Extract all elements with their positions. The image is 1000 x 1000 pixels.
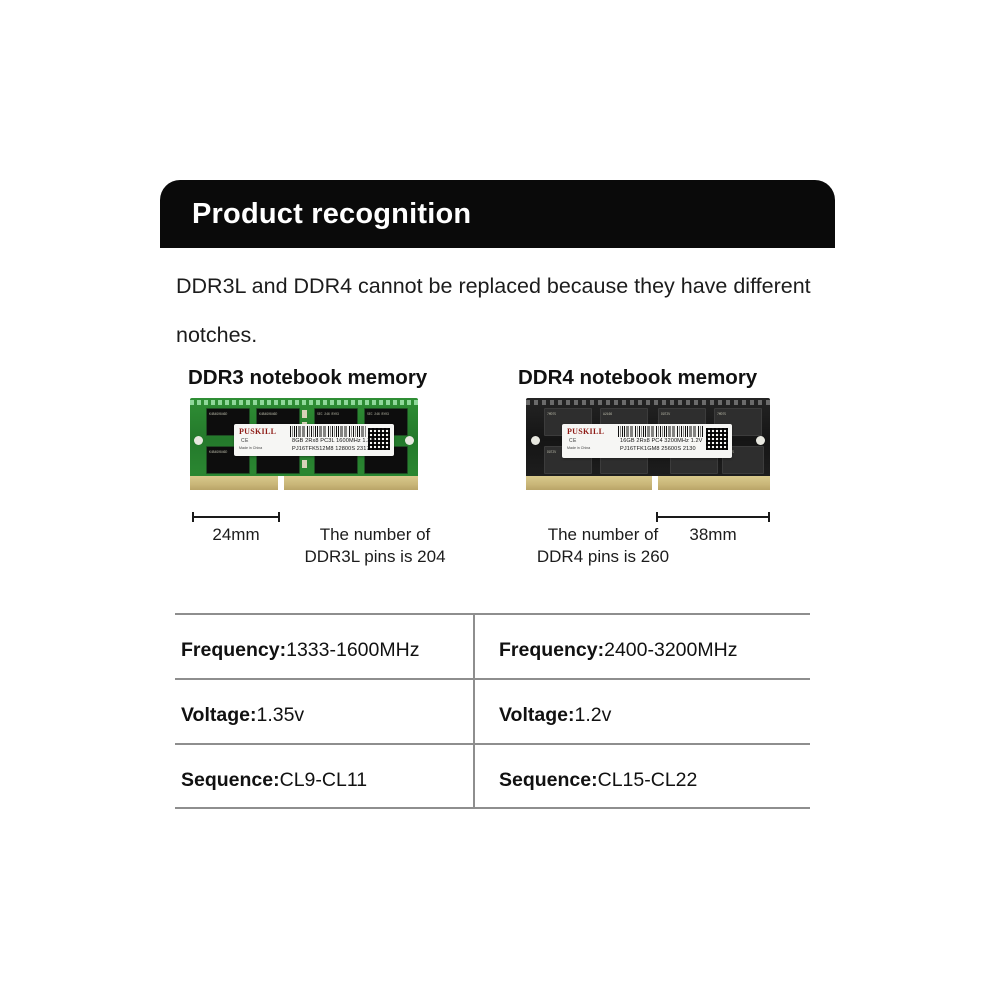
ddr3-spec-line-2: PJ16TFK512M8 12800S 2317	[292, 446, 370, 452]
ddr4-spec-line-1: 16GB 2Rx8 PC4 3200MHz 1.2V	[620, 438, 703, 444]
ddr3-smd-pad	[302, 460, 307, 468]
ddr3-dimension-label: 24mm	[192, 525, 280, 545]
ddr3-mounting-hole-left	[194, 436, 203, 445]
table-rule-bottom	[175, 807, 810, 809]
ddr3-memory-module-image: K4B4G0846D K4B4G0846D SEC 246 BY03 SEC 2…	[190, 398, 418, 502]
ddr3-chip-marking: K4B4G0846D	[259, 412, 297, 416]
ddr3-gold-contacts-left	[190, 476, 278, 490]
value-ddr3-voltage: 1.35v	[256, 704, 304, 726]
ddr4-mounting-hole-right	[756, 436, 765, 445]
ddr3-brand-name: PUSKILL	[239, 427, 276, 436]
ddr4-chip-marking: 7MD75	[717, 412, 759, 416]
ddr4-chip-marking: 7MD75	[547, 412, 589, 416]
label-ddr4-voltage: Voltage:	[499, 704, 574, 726]
label-ddr3-frequency: Frequency:	[181, 639, 286, 661]
ddr3-chip-marking: K4B4G0846D	[209, 412, 247, 416]
table-cell-ddr3-voltage: Voltage:1.35v	[181, 704, 304, 727]
intro-paragraph: DDR3L and DDR4 cannot be replaced becaus…	[176, 262, 836, 360]
label-ddr3-voltage: Voltage:	[181, 704, 256, 726]
ddr4-chip-marking: D9TZV	[661, 412, 703, 416]
spec-comparison-table: Frequency:1333-1600MHz Frequency:2400-32…	[175, 613, 810, 809]
ddr4-product-label: PUSKILL CE Made in China 16GB 2Rx8 PC4 3…	[562, 424, 732, 458]
ddr3-dimension-cap-right	[278, 512, 280, 522]
table-cell-ddr4-voltage: Voltage:1.2v	[499, 704, 611, 727]
ddr3-gold-contacts-right	[284, 476, 418, 490]
label-ddr3-sequence: Sequence:	[181, 769, 280, 791]
ddr4-chip-marking: A2166	[603, 412, 645, 416]
ddr3-top-silkscreen	[190, 400, 418, 405]
ddr3-barcode	[290, 426, 366, 437]
table-column-divider	[473, 613, 475, 809]
ddr3-dimension-line	[192, 512, 280, 521]
section-header-bar: Product recognition	[160, 180, 835, 248]
value-ddr3-sequence: CL9-CL11	[280, 769, 367, 791]
ddr4-pin-caption-line-2: DDR4 pins is 260	[518, 546, 688, 568]
ddr4-barcode	[618, 426, 704, 437]
ddr4-origin-text: Made in China	[567, 446, 590, 450]
ddr4-gold-contacts-left	[526, 476, 652, 490]
page-title: Product recognition	[192, 198, 471, 231]
ddr4-notch	[652, 476, 658, 502]
label-ddr4-frequency: Frequency:	[499, 639, 604, 661]
ddr4-brand-name: PUSKILL	[567, 427, 604, 436]
table-rule-1	[175, 678, 810, 680]
ddr4-dimension-line	[656, 512, 770, 521]
ddr3-pin-caption-line-1: The number of	[290, 524, 460, 546]
table-rule-top	[175, 613, 810, 615]
ddr3-pin-caption-line-2: DDR3L pins is 204	[290, 546, 460, 568]
label-ddr4-sequence: Sequence:	[499, 769, 598, 791]
ddr3-notch	[278, 476, 284, 502]
ddr4-dimension-bar	[656, 516, 770, 518]
ddr4-qr-code	[706, 428, 728, 450]
ddr4-dimension-cap-right	[768, 512, 770, 522]
value-ddr4-voltage: 1.2v	[574, 704, 611, 726]
ddr3-pin-count-caption: The number of DDR3L pins is 204	[290, 524, 460, 568]
heading-ddr3-module: DDR3 notebook memory	[188, 366, 427, 390]
ddr4-top-silkscreen	[526, 400, 770, 405]
value-ddr4-sequence: CL15-CL22	[598, 769, 698, 791]
table-rule-2	[175, 743, 810, 745]
table-cell-ddr3-frequency: Frequency:1333-1600MHz	[181, 639, 419, 662]
table-cell-ddr4-sequence: Sequence:CL15-CL22	[499, 769, 697, 792]
ddr3-ce-mark: CE	[241, 438, 249, 444]
value-ddr3-frequency: 1333-1600MHz	[286, 639, 419, 661]
ddr4-mounting-hole-left	[531, 436, 540, 445]
ddr4-pin-caption-line-1: The number of	[518, 524, 688, 546]
table-cell-ddr3-sequence: Sequence:CL9-CL11	[181, 769, 367, 792]
ddr3-product-label: PUSKILL CE Made in China 8GB 2Rx8 PC3L 1…	[234, 424, 394, 456]
ddr4-memory-module-image: 7MD75 A2166 D9TZV 7MD75 D9TZV D9TZV D9TZ…	[526, 398, 770, 502]
heading-ddr4-module: DDR4 notebook memory	[518, 366, 757, 390]
ddr3-dimension-bar	[192, 516, 280, 518]
ddr3-chip-marking: SEC 246 BY03	[317, 412, 355, 416]
ddr4-gold-contacts-right	[658, 476, 770, 490]
ddr4-pin-count-caption: The number of DDR4 pins is 260	[518, 524, 688, 568]
ddr3-mounting-hole-right	[405, 436, 414, 445]
ddr4-ce-mark: CE	[569, 438, 577, 444]
ddr3-smd-pad	[302, 410, 307, 418]
ddr3-origin-text: Made in China	[239, 446, 262, 450]
ddr3-spec-line-1: 8GB 2Rx8 PC3L 1600MHz 1.35V	[292, 438, 378, 444]
table-cell-ddr4-frequency: Frequency:2400-3200MHz	[499, 639, 737, 662]
ddr4-spec-line-2: PJ16TFK1GM8 25600S 2130	[620, 446, 696, 452]
ddr3-chip-marking: SEC 246 BY03	[367, 412, 405, 416]
value-ddr4-frequency: 2400-3200MHz	[604, 639, 737, 661]
